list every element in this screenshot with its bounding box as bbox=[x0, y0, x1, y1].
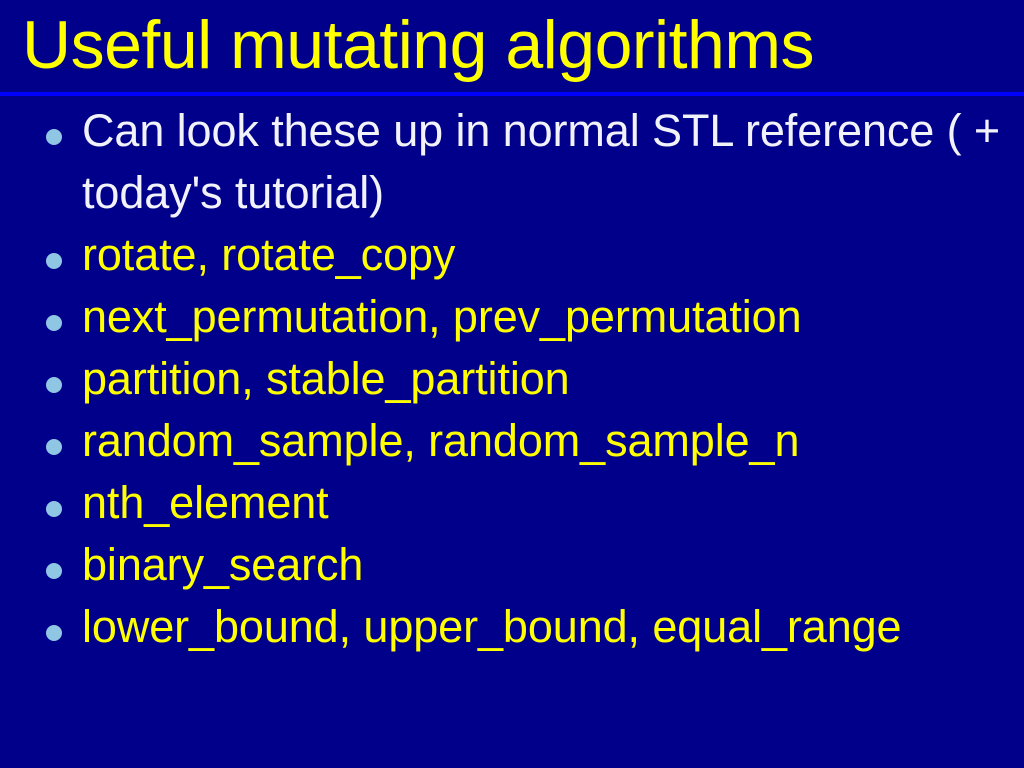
bullet-dot-icon bbox=[46, 501, 62, 517]
bullet-dot-icon bbox=[46, 563, 62, 579]
bullet-item-label: next_permutation, prev_permutation bbox=[82, 286, 1024, 348]
bullet-item: rotate, rotate_copy bbox=[0, 224, 1024, 286]
bullet-item: binary_search bbox=[0, 534, 1024, 596]
bullet-item: nth_element bbox=[0, 472, 1024, 534]
bullet-item: lower_bound, upper_bound, equal_range bbox=[0, 596, 1024, 658]
bullet-item: Can look these up in normal STL referenc… bbox=[0, 100, 1024, 224]
title-separator-rule bbox=[0, 92, 1024, 96]
slide-title-band: Useful mutating algorithms bbox=[0, 0, 1024, 92]
bullet-dot-icon bbox=[46, 315, 62, 331]
bullet-item: partition, stable_partition bbox=[0, 348, 1024, 410]
bullet-item-label: lower_bound, upper_bound, equal_range bbox=[82, 596, 1024, 658]
presentation-slide: Useful mutating algorithms Can look thes… bbox=[0, 0, 1024, 768]
bullet-dot-icon bbox=[46, 377, 62, 393]
bullet-item: next_permutation, prev_permutation bbox=[0, 286, 1024, 348]
bullet-item-label: partition, stable_partition bbox=[82, 348, 1024, 410]
bullet-item-label: nth_element bbox=[82, 472, 1024, 534]
bullet-item-label: Can look these up in normal STL referenc… bbox=[82, 100, 1024, 224]
slide-body: Can look these up in normal STL referenc… bbox=[0, 100, 1024, 768]
bullet-dot-icon bbox=[46, 439, 62, 455]
bullet-dot-icon bbox=[46, 625, 62, 641]
bullet-item-label: binary_search bbox=[82, 534, 1024, 596]
bullet-item: random_sample, random_sample_n bbox=[0, 410, 1024, 472]
bullet-item-label: rotate, rotate_copy bbox=[82, 224, 1024, 286]
bullet-item-label: random_sample, random_sample_n bbox=[82, 410, 1024, 472]
slide-title: Useful mutating algorithms bbox=[22, 2, 1002, 88]
bullet-dot-icon bbox=[46, 253, 62, 269]
bullet-dot-icon bbox=[46, 129, 62, 145]
